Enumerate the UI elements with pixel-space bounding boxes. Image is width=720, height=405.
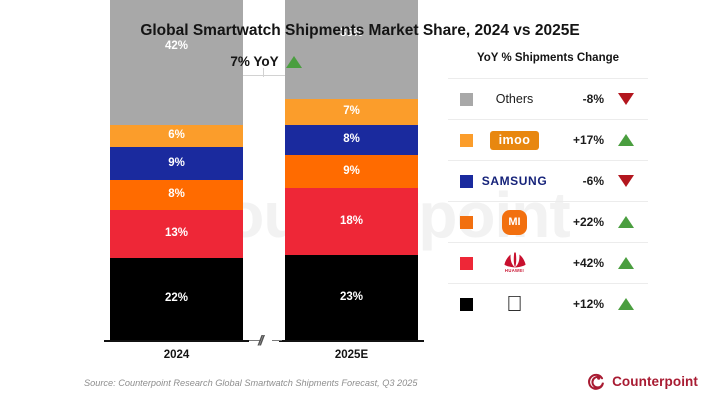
legend-swatch-imoo	[460, 134, 473, 147]
counterpoint-brand-logo: Counterpoint	[588, 373, 698, 390]
triangle-down-icon	[604, 175, 648, 187]
segment-mi-2025e: 9%	[285, 155, 418, 188]
segment-samsung-2025e: 8%	[285, 125, 418, 155]
counterpoint-spiral-icon	[588, 373, 605, 390]
brand-logo-huawei: HUAWEI	[473, 243, 556, 283]
legend-label-xiaomi: MI	[502, 210, 527, 235]
segment-others-2025e: 35%	[285, 0, 418, 99]
legend-title: YoY % Shipments Change	[448, 52, 648, 78]
legend-swatch-xiaomi	[460, 216, 473, 229]
legend-label-samsung: SAMSUNG	[482, 174, 548, 188]
bar-2025e[interactable]: 35% 7% 8% 9% 18% 23%	[285, 0, 418, 340]
segment-imoo-2025e: 7%	[285, 99, 418, 125]
legend-row-samsung[interactable]: SAMSUNG -6%	[448, 160, 648, 201]
legend-change-xiaomi: +22%	[556, 215, 604, 229]
legend-change-apple: +12%	[556, 297, 604, 311]
page-title: Global Smartwatch Shipments Market Share…	[0, 22, 720, 40]
huawei-fan-icon	[501, 252, 529, 268]
x-axis-break-tick-right	[272, 340, 282, 341]
legend-row-huawei[interactable]: HUAWEI +42%	[448, 242, 648, 283]
triangle-up-icon	[604, 257, 648, 269]
legend-swatch-apple	[460, 298, 473, 311]
x-axis-label-2024: 2024	[110, 349, 243, 361]
counterpoint-logo-text: Counterpoint	[612, 374, 698, 389]
legend-row-imoo[interactable]: imoo +17%	[448, 119, 648, 160]
bar-2024[interactable]: 42% 6% 9% 8% 13% 22%	[110, 0, 243, 340]
brand-logo-apple: 	[473, 284, 556, 324]
yoy-total-callout: 7% YoY	[186, 54, 346, 69]
segment-apple-2025e: 23%	[285, 255, 418, 340]
legend-swatch-samsung	[460, 175, 473, 188]
segment-imoo-2024: 6%	[110, 125, 243, 147]
segment-mi-2024: 8%	[110, 180, 243, 210]
segment-samsung-2024: 9%	[110, 147, 243, 180]
apple-icon: 	[506, 293, 523, 315]
legend-label-others: Others	[496, 92, 534, 106]
legend-swatch-huawei	[460, 257, 473, 270]
yoy-total-label: 7% YoY	[230, 54, 278, 69]
source-note: Source: Counterpoint Research Global Sma…	[84, 378, 417, 388]
legend-change-imoo: +17%	[556, 133, 604, 147]
triangle-up-icon	[286, 56, 302, 68]
triangle-up-icon	[604, 298, 648, 310]
legend-row-others[interactable]: Others -8%	[448, 78, 648, 119]
legend-swatch-others	[460, 93, 473, 106]
triangle-up-icon	[604, 134, 648, 146]
brand-logo-samsung: SAMSUNG	[473, 161, 556, 201]
legend-change-huawei: +42%	[556, 256, 604, 270]
segment-huawei-2025e: 18%	[285, 188, 418, 255]
legend-row-xiaomi[interactable]: MI +22%	[448, 201, 648, 242]
segment-apple-2024: 22%	[110, 258, 243, 340]
triangle-up-icon	[604, 216, 648, 228]
x-axis-label-2025e: 2025E	[285, 349, 418, 361]
legend-change-samsung: -6%	[556, 174, 604, 188]
x-axis-right-segment	[279, 340, 424, 343]
legend-row-apple[interactable]:  +12%	[448, 283, 648, 324]
legend-label-huawei: HUAWEI	[505, 269, 524, 273]
axis-break-icon: //	[258, 332, 262, 348]
brand-logo-xiaomi: MI	[473, 202, 556, 242]
legend-change-others: -8%	[556, 92, 604, 106]
legend-label-imoo: imoo	[490, 131, 540, 150]
triangle-down-icon	[604, 93, 648, 105]
brand-logo-others: Others	[473, 79, 556, 119]
legend-panel: YoY % Shipments Change Others -8% imoo +…	[448, 52, 648, 324]
brand-logo-imoo: imoo	[473, 120, 556, 160]
x-axis-left-segment	[104, 340, 249, 343]
segment-huawei-2024: 13%	[110, 210, 243, 258]
